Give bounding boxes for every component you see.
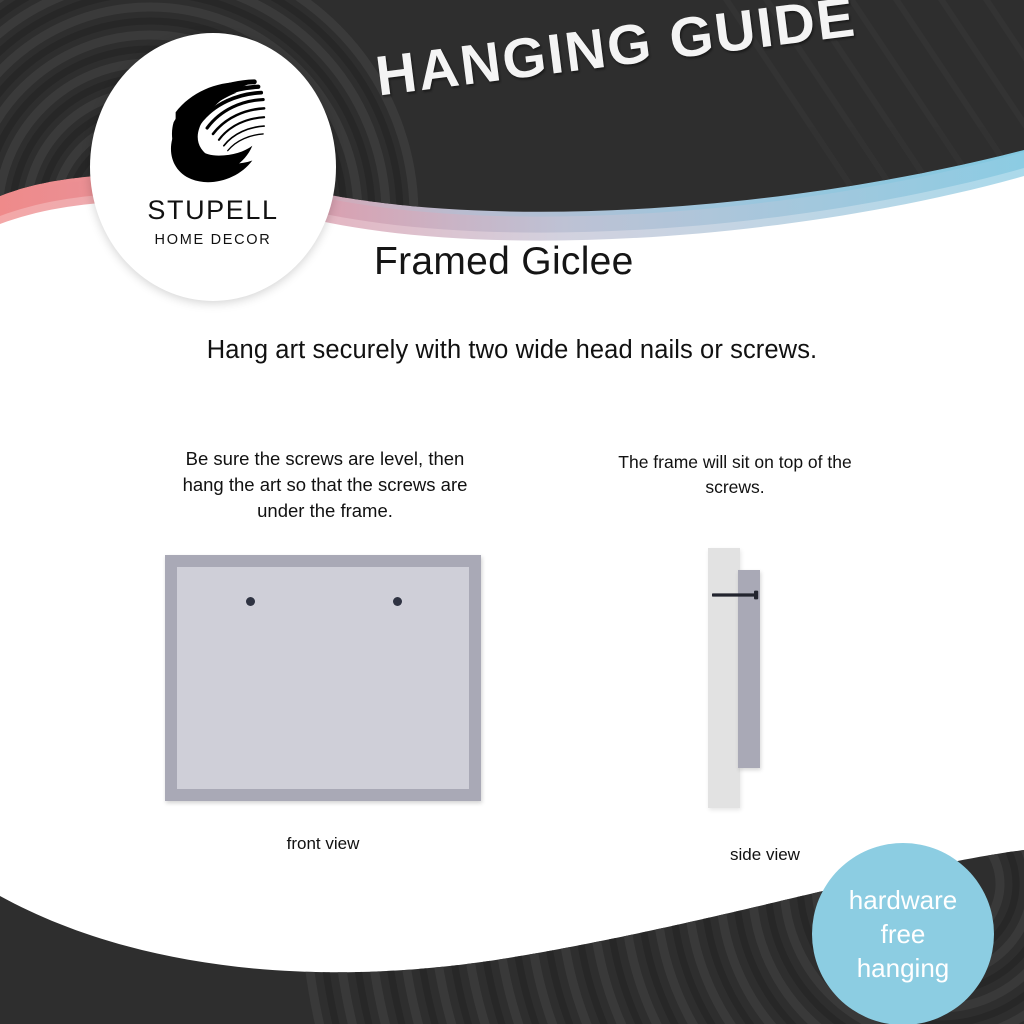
wall-cross-section — [708, 548, 740, 808]
side-view-diagram — [700, 548, 830, 810]
screw-dot-right-icon — [393, 597, 402, 606]
page-title: HANGING GUIDE — [372, 0, 896, 108]
screw-dot-left-icon — [246, 597, 255, 606]
brand-logo-badge: STUPELL HOME DECOR — [90, 33, 336, 301]
side-view-caption: The frame will sit on top of the screws. — [600, 450, 870, 500]
hardware-free-badge: hardware free hanging — [812, 843, 994, 1024]
product-type-label: Framed Giclee — [374, 240, 634, 284]
front-view-diagram — [165, 555, 481, 801]
badge-line-1: hardware — [849, 883, 957, 917]
badge-line-2: free — [881, 917, 926, 951]
frame-mat-area — [177, 567, 469, 789]
nail-icon — [712, 590, 762, 600]
front-view-caption: Be sure the screws are level, then hang … — [170, 446, 480, 524]
hanging-guide-page: STUPELL HOME DECOR HANGING GUIDE Framed … — [0, 0, 1024, 1024]
logo-tagline: HOME DECOR — [155, 233, 272, 248]
main-instruction-text: Hang art securely with two wide head nai… — [0, 336, 1024, 365]
logo-wordmark: STUPELL — [147, 197, 278, 224]
badge-line-3: hanging — [857, 951, 950, 985]
swirl-s-icon — [154, 69, 272, 191]
front-view-label: front view — [165, 834, 481, 854]
